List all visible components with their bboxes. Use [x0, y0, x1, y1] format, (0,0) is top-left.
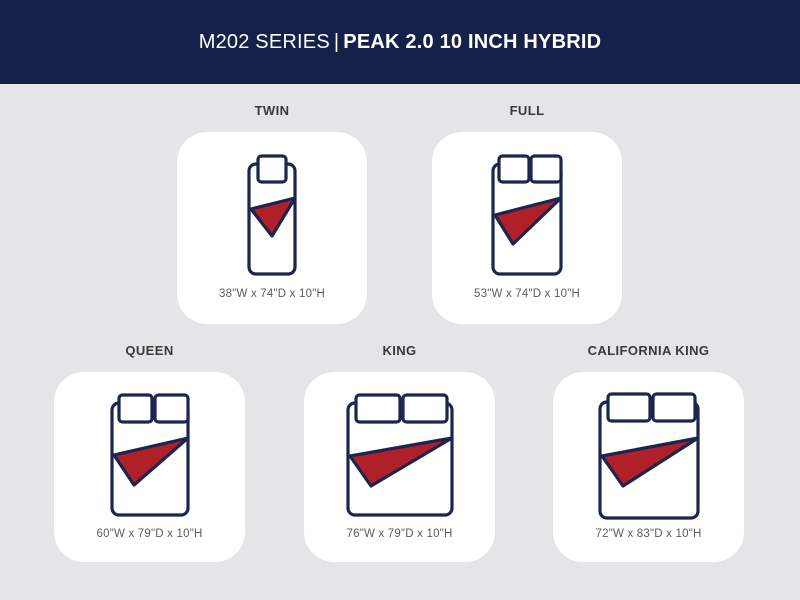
size-card-california-king[interactable]: 72"W x 83"D x 10"H: [553, 372, 744, 562]
size-card-california-king-wrapper: CALIFORNIA KING 72"W x 83"D x 10"H: [553, 342, 744, 562]
size-dimensions-california-king: 72"W x 83"D x 10"H: [596, 528, 702, 540]
size-title-california-king: CALIFORNIA KING: [553, 342, 744, 360]
size-title-twin: TWIN: [177, 102, 367, 120]
header-separator: |: [330, 31, 343, 53]
size-dimensions-king: 76"W x 79"D x 10"H: [347, 528, 453, 540]
size-card-king[interactable]: 76"W x 79"D x 10"H: [304, 372, 495, 562]
size-card-queen-wrapper: QUEEN 60"W x 79"D x 10"H: [54, 342, 245, 562]
bed-california-king-icon: [583, 392, 715, 524]
size-card-full[interactable]: 53"W x 74"D x 10"H: [432, 132, 622, 324]
size-title-queen: QUEEN: [54, 342, 245, 360]
bed-diagram-area-twin: [177, 150, 367, 288]
size-title-king: KING: [304, 342, 495, 360]
bed-diagram-area-full: [432, 150, 622, 288]
size-dimensions-full: 53"W x 74"D x 10"H: [474, 288, 580, 300]
size-title-full: FULL: [432, 102, 622, 120]
bed-diagram-area-california-king: [553, 388, 744, 528]
bed-diagram-area-king: [304, 388, 495, 528]
bed-queen-icon: [86, 393, 214, 523]
size-card-grid: TWIN 38"W x 74"D x 10"H FULL: [0, 84, 800, 600]
size-dimensions-queen: 60"W x 79"D x 10"H: [97, 528, 203, 540]
header-product-label: PEAK 2.0 10 INCH HYBRID: [343, 31, 601, 53]
header-series-label: M202 SERIES: [199, 31, 330, 53]
bed-king-icon: [334, 393, 466, 523]
bed-twin-icon: [211, 154, 333, 284]
page-title: M202 SERIES|PEAK 2.0 10 INCH HYBRID: [199, 31, 602, 54]
size-dimensions-twin: 38"W x 74"D x 10"H: [219, 288, 325, 300]
size-card-twin-wrapper: TWIN 38"W x 74"D x 10"H: [177, 102, 367, 324]
size-card-king-wrapper: KING 76"W x 79"D x 10"H: [304, 342, 495, 562]
size-card-full-wrapper: FULL 53"W x 74"D x 10"H: [432, 102, 622, 324]
bed-diagram-area-queen: [54, 388, 245, 528]
header-bar: M202 SERIES|PEAK 2.0 10 INCH HYBRID: [0, 0, 800, 84]
bed-full-icon: [466, 154, 588, 284]
size-card-queen[interactable]: 60"W x 79"D x 10"H: [54, 372, 245, 562]
size-card-twin[interactable]: 38"W x 74"D x 10"H: [177, 132, 367, 324]
